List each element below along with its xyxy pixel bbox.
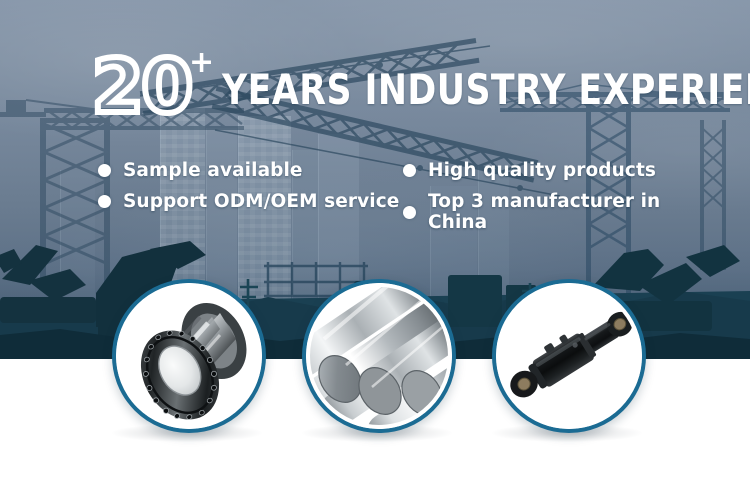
product-circle-steel-bars[interactable] xyxy=(302,279,456,433)
polished-steel-round-bars-icon xyxy=(306,283,452,429)
product-image-steel-bars xyxy=(306,283,452,429)
steel-flange-pipe-fitting-icon xyxy=(116,283,262,429)
black-hydraulic-cylinder-icon xyxy=(496,283,642,429)
product-image-flange xyxy=(116,283,262,429)
product-circles xyxy=(0,0,750,482)
product-image-hydraulic-cylinder xyxy=(496,283,642,429)
product-circle-hydraulic-cylinder[interactable] xyxy=(492,279,646,433)
promo-banner: 20 + YEARS INDUSTRY EXPERIENCE Sample av… xyxy=(0,0,750,482)
product-circle-flange[interactable] xyxy=(112,279,266,433)
